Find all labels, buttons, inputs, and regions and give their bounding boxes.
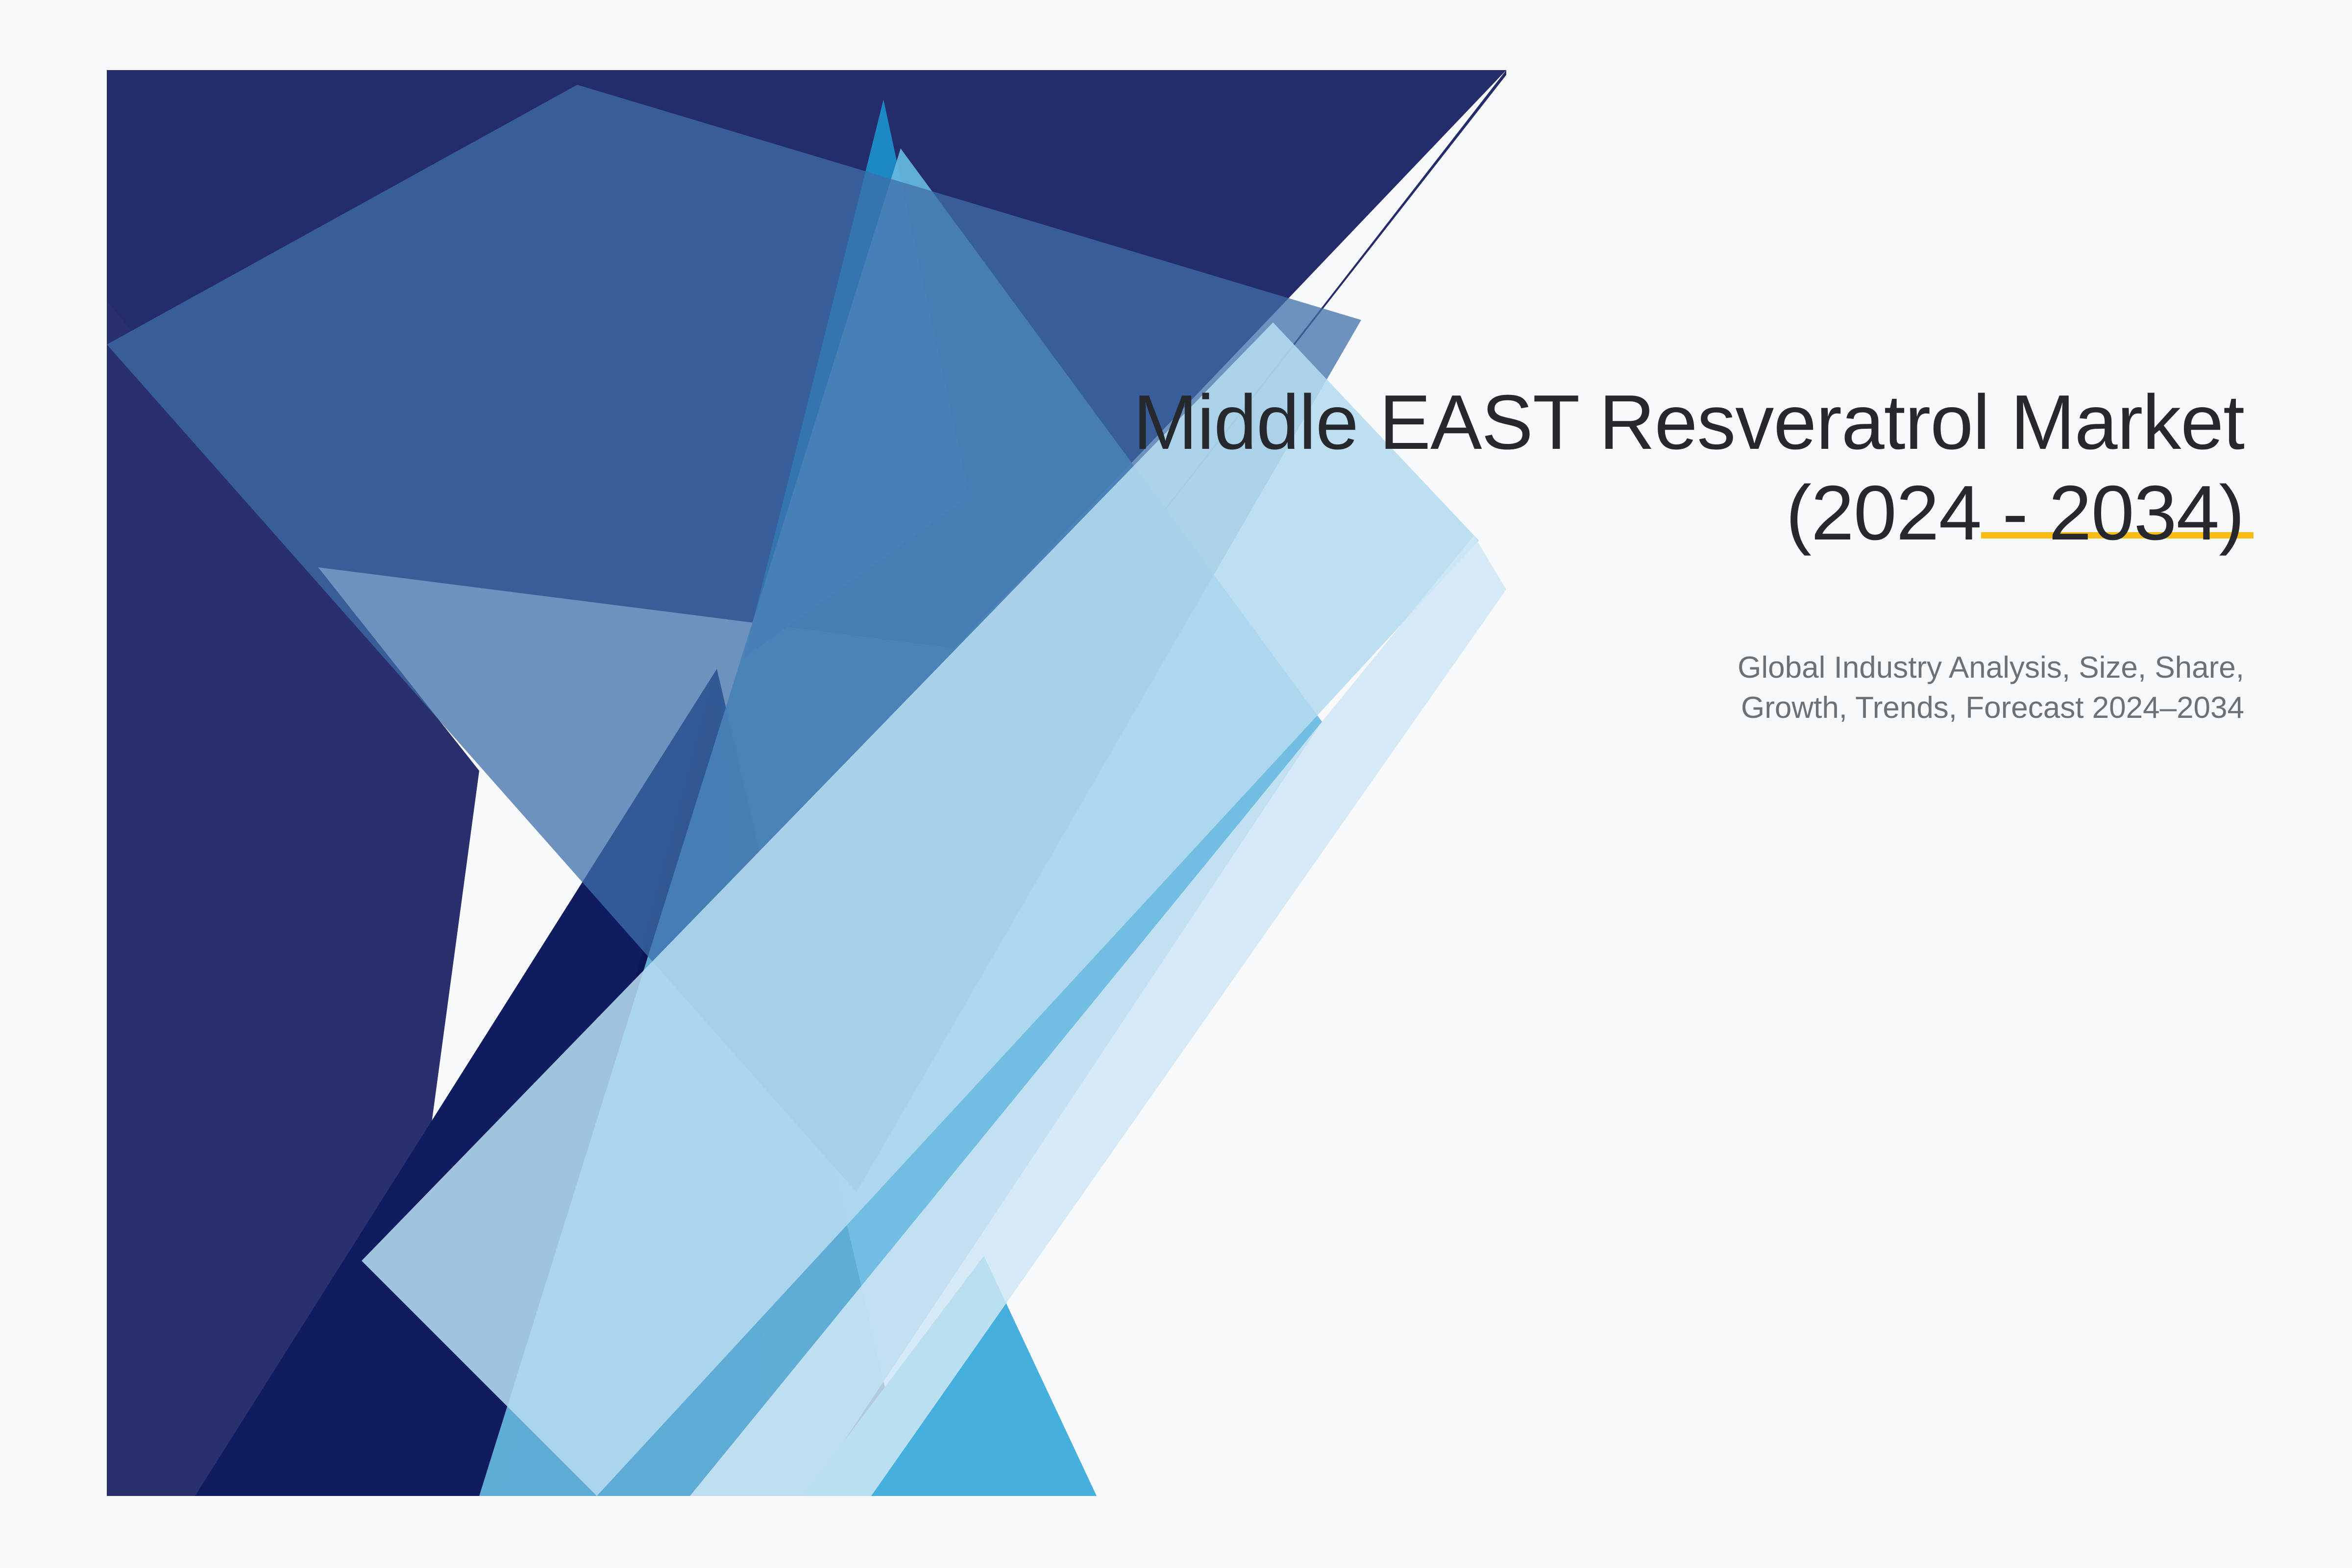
page-subtitle-line-1: Global Industry Analysis, Size, Share, <box>1274 648 2244 688</box>
polygon-artwork-svg <box>107 70 1506 1496</box>
page-title-line-1: Middle EAST Resveratrol Market <box>1039 377 2244 468</box>
abstract-polygon-graphic <box>107 70 1506 1496</box>
page-title-line-2: (2024 - 2034) <box>1039 468 2244 559</box>
page-subtitle-line-2: Growth, Trends, Forecast 2024–2034 <box>1274 688 2244 728</box>
title-block: Middle EAST Resveratrol Market (2024 - 2… <box>1039 377 2244 559</box>
report-cover-page: Middle EAST Resveratrol Market (2024 - 2… <box>0 0 2352 1568</box>
page-title: Middle EAST Resveratrol Market (2024 - 2… <box>1039 377 2244 559</box>
page-subtitle: Global Industry Analysis, Size, Share, G… <box>1274 648 2244 728</box>
